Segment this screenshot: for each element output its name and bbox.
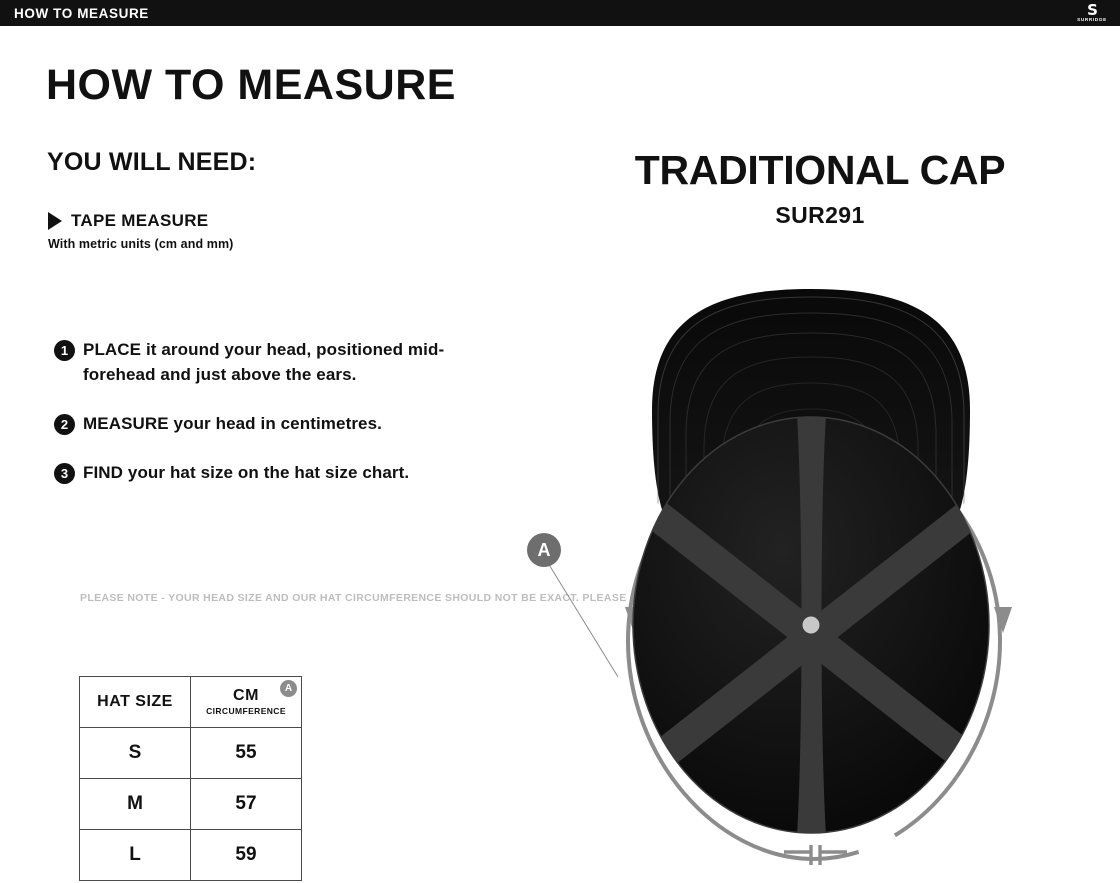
step-item: 2 MEASURE your head in centimetres. bbox=[54, 412, 454, 437]
callout-badge-a: A bbox=[527, 533, 561, 567]
top-bar-title: HOW TO MEASURE bbox=[14, 6, 149, 21]
step-item: 1 PLACE it around your head, positioned … bbox=[54, 338, 454, 388]
crown-button-icon bbox=[803, 617, 820, 634]
surridge-logo: S SURRIDGE bbox=[1070, 1, 1114, 25]
cell-cm: 59 bbox=[191, 830, 302, 881]
step-number-badge: 1 bbox=[54, 340, 75, 361]
product-code: SUR291 bbox=[560, 202, 1080, 229]
triangle-bullet-icon bbox=[48, 212, 62, 230]
step-text: FIND your hat size on the hat size chart… bbox=[83, 461, 409, 486]
callout-leader-line bbox=[548, 563, 618, 677]
column-header-cm-sub: CIRCUMFERENCE bbox=[191, 706, 301, 716]
page-title: HOW TO MEASURE bbox=[46, 64, 456, 107]
logo-wordmark: SURRIDGE bbox=[1077, 17, 1107, 22]
cell-cm: 55 bbox=[191, 728, 302, 779]
hat-size-table: HAT SIZE CM CIRCUMFERENCE A S 55 M 57 L … bbox=[79, 676, 302, 881]
step-text: PLACE it around your head, positioned mi… bbox=[83, 338, 454, 388]
table-row: S 55 bbox=[80, 728, 302, 779]
column-header-cm: CM CIRCUMFERENCE A bbox=[191, 677, 302, 728]
table-row: M 57 bbox=[80, 779, 302, 830]
need-item-subtext: With metric units (cm and mm) bbox=[48, 237, 233, 251]
table-row: L 59 bbox=[80, 830, 302, 881]
step-number-badge: 2 bbox=[54, 414, 75, 435]
step-item: 3 FIND your hat size on the hat size cha… bbox=[54, 461, 454, 486]
need-item-label: TAPE MEASURE bbox=[71, 211, 208, 231]
cap-crown bbox=[633, 415, 989, 835]
step-number-badge: 3 bbox=[54, 463, 75, 484]
cell-hat-size: M bbox=[80, 779, 191, 830]
table-header-row: HAT SIZE CM CIRCUMFERENCE A bbox=[80, 677, 302, 728]
product-name: TRADITIONAL CAP bbox=[560, 150, 1080, 191]
logo-s-mark: S bbox=[1087, 5, 1097, 16]
top-bar: HOW TO MEASURE S SURRIDGE bbox=[0, 0, 1120, 26]
need-item-row: TAPE MEASURE bbox=[48, 211, 208, 231]
measure-end-ticks bbox=[784, 845, 847, 865]
steps-list: 1 PLACE it around your head, positioned … bbox=[54, 338, 454, 510]
you-will-need-heading: YOU WILL NEED: bbox=[47, 148, 256, 177]
cell-cm: 57 bbox=[191, 779, 302, 830]
cell-hat-size: L bbox=[80, 830, 191, 881]
measurement-badge-a-icon: A bbox=[280, 680, 297, 697]
step-text: MEASURE your head in centimetres. bbox=[83, 412, 382, 437]
cap-illustration bbox=[500, 275, 1120, 883]
column-header-hat-size: HAT SIZE bbox=[80, 677, 191, 728]
measure-arrow-right-icon bbox=[994, 607, 1012, 633]
cell-hat-size: S bbox=[80, 728, 191, 779]
